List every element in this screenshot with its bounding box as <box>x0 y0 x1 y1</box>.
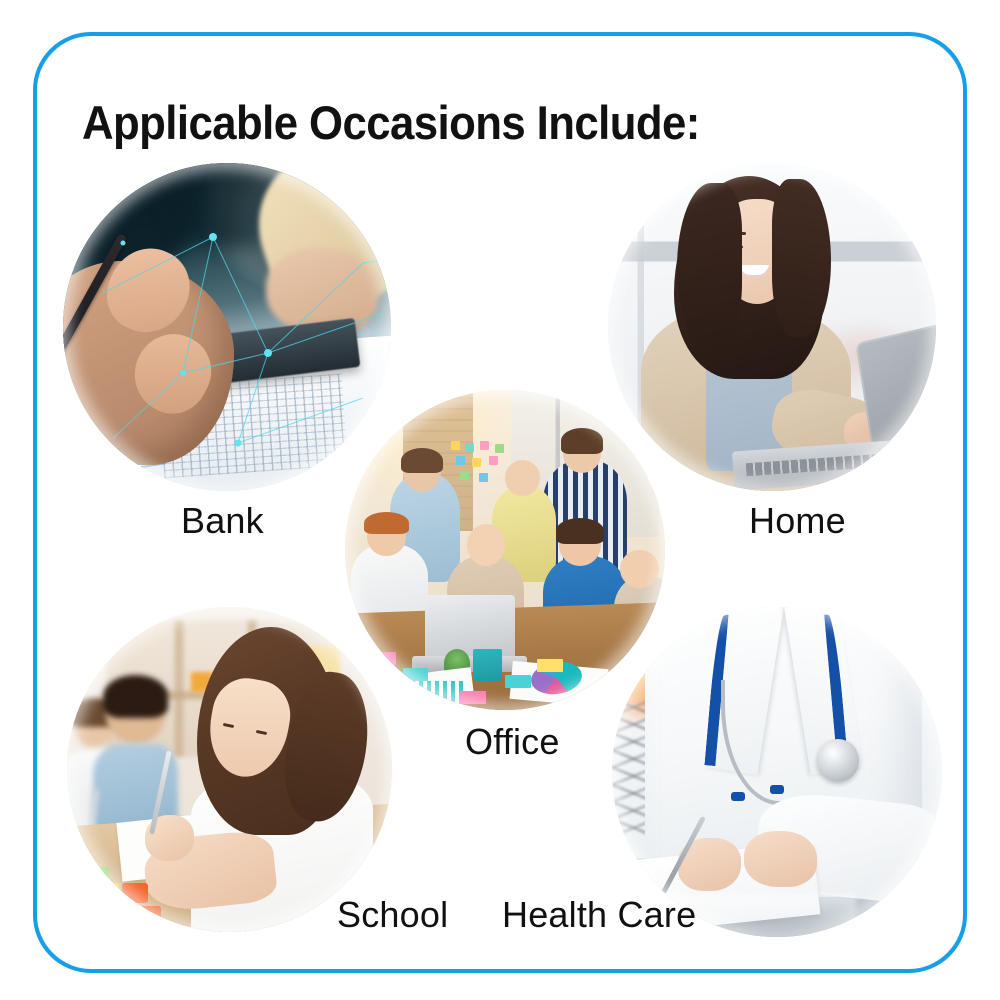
health-care-scene <box>612 607 942 937</box>
occasion-label-health-care: Health Care <box>502 894 696 936</box>
occasion-circle-school[interactable] <box>67 607 392 932</box>
office-person-head <box>620 550 658 588</box>
occasion-label-office: Office <box>465 721 560 763</box>
occasion-circle-health-care[interactable] <box>612 607 942 937</box>
office-person-hair <box>556 518 604 544</box>
bank-scene <box>63 163 391 491</box>
school-foam-letter <box>129 906 162 926</box>
occasion-label-home: Home <box>749 500 846 542</box>
occasion-label-school: School <box>337 894 448 936</box>
health-stethoscope-chestpiece <box>817 739 860 782</box>
home-hair-strand <box>772 179 831 336</box>
office-bar-chart <box>403 681 467 703</box>
office-person-hair <box>364 512 409 534</box>
occasion-circle-bank[interactable] <box>63 163 391 491</box>
school-scene <box>67 607 392 932</box>
office-person-head <box>467 524 505 566</box>
office-sticky-note <box>505 675 531 688</box>
office-sticky-note <box>403 668 429 681</box>
health-hand <box>744 831 817 887</box>
health-stethoscope-clip <box>731 792 745 801</box>
school-child-hair <box>103 675 168 717</box>
office-person-head <box>505 460 540 495</box>
office-sticky-note <box>460 691 486 704</box>
office-person-hair <box>561 428 603 454</box>
home-hair-strand <box>677 183 743 347</box>
bank-network-overlay <box>63 163 391 491</box>
poster-canvas: Applicable Occasions Include: <box>0 0 1000 1000</box>
office-sticky-note <box>537 659 563 672</box>
office-pen-cup <box>473 649 502 681</box>
office-person-hair <box>401 448 443 474</box>
school-foam-letter <box>87 867 110 883</box>
occasion-label-bank: Bank <box>181 500 264 542</box>
page-title: Applicable Occasions Include: <box>82 95 700 150</box>
health-stethoscope-clip <box>770 785 784 794</box>
school-foam-letter <box>122 883 148 903</box>
school-foam-letter <box>93 883 119 903</box>
